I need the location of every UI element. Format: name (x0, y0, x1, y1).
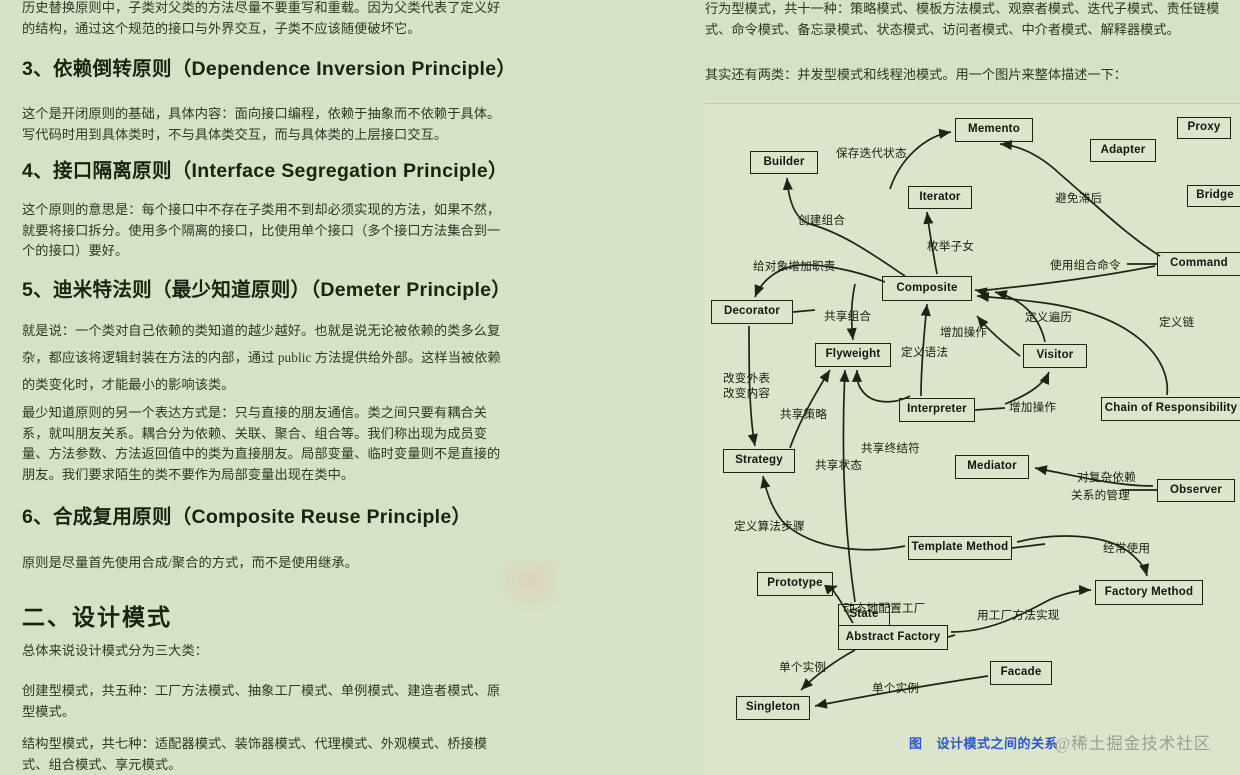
body-demeter-second: 最少知道原则的另一个表达方式是：只与直接的朋友通信。类之间只要有耦合关系，就叫朋… (22, 403, 510, 485)
category-behavioral: 行为型模式，共十一种：策略模式、模板方法模式、观察者模式、迭代子模式、责任链模式… (705, 0, 1237, 40)
node-chain-of-responsibility[interactable]: Chain of Responsibility (1101, 397, 1240, 421)
edge-label-share-state: 共享状态 (815, 459, 862, 474)
node-visitor[interactable]: Visitor (1023, 344, 1087, 368)
body-dependence-inversion: 这个是开闭原则的基础，具体内容：面向接口编程，依赖于抽象而不依赖于具体。写代码时… (22, 104, 508, 145)
node-command[interactable]: Command (1157, 252, 1240, 276)
node-observer[interactable]: Observer (1157, 479, 1235, 502)
edge-label-single-instance-2: 单个实例 (872, 682, 919, 697)
node-interpreter[interactable]: Interpreter (899, 398, 975, 422)
body-composite-reuse: 原则是尽量首先使用合成/聚合的方式，而不是使用继承。 (22, 553, 508, 574)
edge-label-manage-complex-deps-2: 关系的管理 (1071, 489, 1130, 504)
edge-label-define-traversal: 定义遍历 (1025, 311, 1072, 326)
left-text-column: 历史替换原则中，子类对父类的方法尽量不要重写和重载。因为父类代表了定义好的结构，… (22, 0, 510, 775)
edge-label-frequently-used: 经常使用 (1103, 542, 1150, 557)
heading-composite-reuse: 6、合成复用原则（Composite Reuse Principle） (22, 504, 471, 530)
edge-label-change-content: 改变内容 (723, 387, 770, 402)
edge-label-share-strategy: 共享策略 (780, 408, 827, 423)
intro-paragraph: 历史替换原则中，子类对父类的方法尽量不要重写和重载。因为父类代表了定义好的结构，… (22, 0, 508, 39)
node-strategy[interactable]: Strategy (723, 449, 795, 473)
node-mediator[interactable]: Mediator (955, 455, 1029, 479)
edge-label-enumerate-children: 枚举子女 (927, 240, 974, 255)
node-composite[interactable]: Composite (882, 276, 972, 301)
node-singleton[interactable]: Singleton (736, 696, 810, 720)
edge-label-add-operation-2: 增加操作 (1009, 401, 1056, 416)
node-adapter[interactable]: Adapter (1090, 139, 1156, 162)
edge-label-save-iteration-state: 保存迭代状态 (836, 147, 907, 162)
figure-caption-label: 图 (909, 736, 923, 751)
category-structural: 结构型模式，共七种：适配器模式、装饰器模式、代理模式、外观模式、桥接模式、组合模… (22, 734, 508, 775)
edge-label-single-instance-1: 单个实例 (779, 661, 826, 676)
edge-label-change-appearance: 改变外表 (723, 372, 770, 387)
design-pattern-relationship-diagram: Builder Memento Proxy Adapter Bridge Ite… (705, 103, 1240, 775)
edge-label-share-terminal: 共享终结符 (861, 442, 920, 457)
edge-label-avoid-lag: 避免滞后 (1055, 192, 1102, 207)
node-proxy[interactable]: Proxy (1177, 117, 1231, 139)
node-builder[interactable]: Builder (750, 151, 818, 174)
figure-caption-title: 设计模式之间的关系 (937, 736, 1059, 751)
edge-label-impl-with-factory: 用工厂方法实现 (977, 609, 1060, 624)
node-decorator[interactable]: Decorator (711, 300, 793, 324)
edge-label-dynamic-config-factory: 动态地配置工厂 (843, 602, 926, 617)
heading-dependence-inversion: 3、依赖倒转原则（Dependence Inversion Principle） (22, 56, 510, 82)
edge-label-define-grammar: 定义语法 (901, 346, 948, 361)
edge-label-define-algorithm-steps: 定义算法步骤 (734, 520, 805, 535)
heading-interface-segregation: 4、接口隔离原则（Interface Segregation Principle… (22, 158, 508, 184)
chapter-heading-design-patterns: 二、设计模式 (22, 602, 172, 632)
edge-label-manage-complex-deps-1: 对复杂依赖 (1077, 471, 1136, 486)
node-template-method[interactable]: Template Method (908, 536, 1012, 560)
node-bridge[interactable]: Bridge (1187, 185, 1240, 207)
node-iterator[interactable]: Iterator (908, 186, 972, 209)
edge-label-use-composite-command: 使用组合命令 (1050, 259, 1121, 274)
site-watermark: @稀土掘金技术社区 (1055, 730, 1211, 754)
node-abstract-factory[interactable]: Abstract Factory (838, 625, 948, 650)
node-flyweight[interactable]: Flyweight (815, 343, 891, 367)
body-demeter: 就是说：一个类对自己依赖的类知道的越少越好。也就是说无论被依赖的类多么复杂，都应… (22, 317, 508, 398)
edge-label-share-composite: 共享组合 (824, 310, 871, 325)
node-factory-method[interactable]: Factory Method (1095, 580, 1203, 605)
category-creational: 创建型模式，共五种：工厂方法模式、抽象工厂模式、单例模式、建造者模式、原型模式。 (22, 681, 508, 722)
edge-label-create-composite: 创建组合 (798, 214, 845, 229)
edge-label-add-responsibility: 给对象增加职责 (753, 260, 836, 275)
chapter-intro: 总体来说设计模式分为三大类： (22, 641, 508, 662)
figure-caption: 图设计模式之间的关系 (909, 733, 1058, 752)
node-prototype[interactable]: Prototype (757, 572, 833, 596)
node-memento[interactable]: Memento (955, 118, 1033, 142)
heading-demeter: 5、迪米特法则（最少知道原则）（Demeter Principle） (22, 277, 510, 303)
node-facade[interactable]: Facade (990, 661, 1052, 685)
edge-label-define-chain: 定义链 (1159, 316, 1194, 331)
body-interface-segregation: 这个原则的意思是：每个接口中不存在子类用不到却必须实现的方法，如果不然，就要将接… (22, 200, 508, 262)
category-extra: 其实还有两类：并发型模式和线程池模式。用一个图片来整体描述一下： (705, 64, 1237, 85)
edge-label-add-operation-1: 增加操作 (940, 326, 987, 341)
page-root: 历史替换原则中，子类对父类的方法尽量不要重写和重载。因为父类代表了定义好的结构，… (0, 0, 1240, 775)
